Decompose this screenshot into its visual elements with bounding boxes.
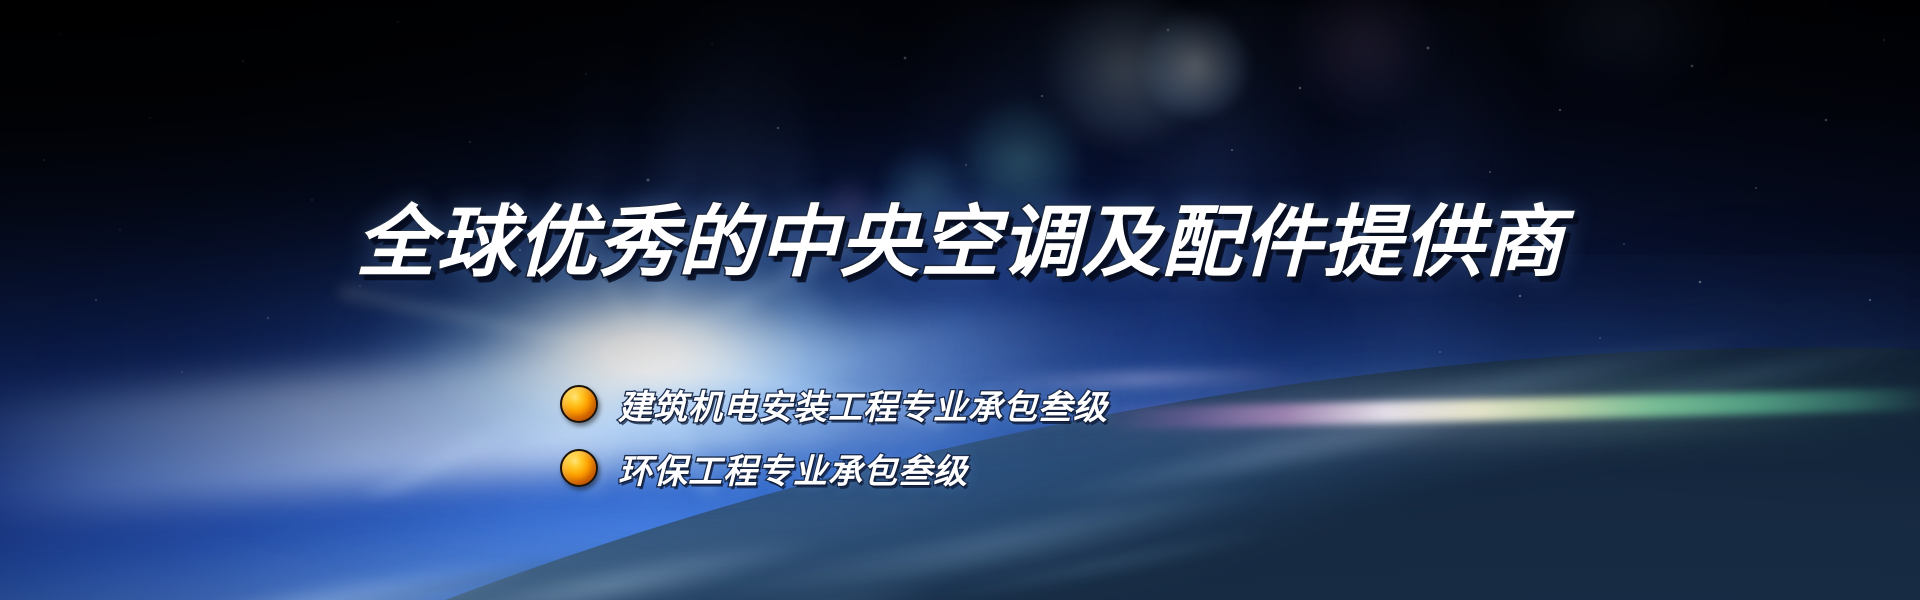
orange-dot-bullet-icon <box>560 385 598 423</box>
qualification-label: 建筑机电安装工程专业承包叁级 <box>618 380 1108 429</box>
qualification-list: 建筑机电安装工程专业承包叁级 环保工程专业承包叁级 <box>560 383 1108 489</box>
orange-dot-bullet-icon <box>560 449 598 487</box>
qualification-label: 环保工程专业承包叁级 <box>618 444 968 493</box>
hero-banner: 全球优秀的中央空调及配件提供商 建筑机电安装工程专业承包叁级 环保工程专业承包叁… <box>0 0 1920 600</box>
banner-content: 全球优秀的中央空调及配件提供商 建筑机电安装工程专业承包叁级 环保工程专业承包叁… <box>0 0 1920 600</box>
banner-headline: 全球优秀的中央空调及配件提供商 <box>0 203 1920 281</box>
list-item: 环保工程专业承包叁级 <box>560 447 1108 489</box>
list-item: 建筑机电安装工程专业承包叁级 <box>560 383 1108 425</box>
